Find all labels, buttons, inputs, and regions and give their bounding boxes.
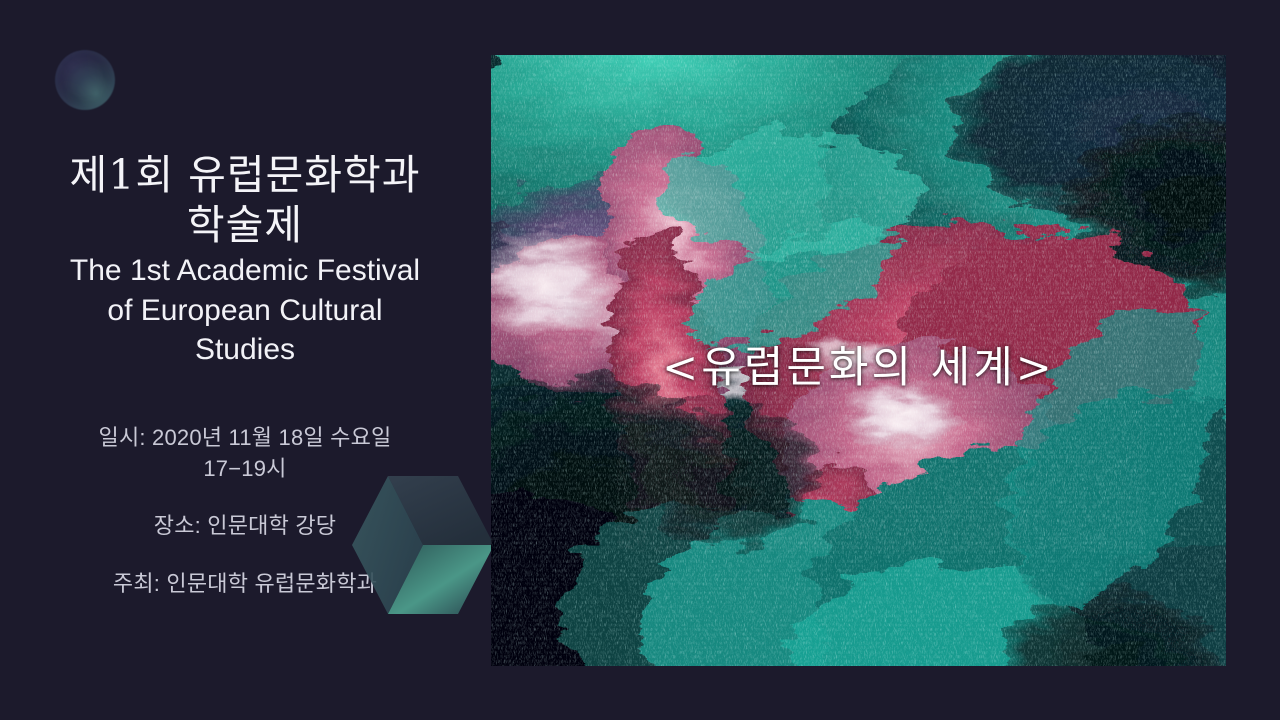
event-organizer: 주최: 인문대학 유럽문화학과 [20,568,470,599]
title-korean-line-1: 제1회 유럽문화학과 [20,150,470,200]
title-english-line-3: Studies [20,332,470,369]
presentation-slide: 제1회 유럽문화학과 학술제 The 1st Academic Festival… [0,0,1280,720]
title-english-line-2: of European Cultural [20,293,470,330]
artwork-image: <유럽문화의 세계> [491,55,1226,666]
artwork-caption-text: <유럽문화의 세계> [662,333,1055,395]
title-block: 제1회 유럽문화학과 학술제 The 1st Academic Festival… [20,150,470,369]
artwork-caption: <유럽문화의 세계> [491,55,1226,666]
title-english-line-1: The 1st Academic Festival [20,253,470,290]
left-text-column: 제1회 유럽문화학과 학술제 The 1st Academic Festival… [0,0,490,720]
event-venue: 장소: 인문대학 강당 [20,510,470,541]
event-info-block: 일시: 2020년 11월 18일 수요일 17−19시 장소: 인문대학 강당… [20,422,470,599]
event-datetime-line-2: 17−19시 [20,453,470,484]
event-datetime-line-1: 일시: 2020년 11월 18일 수요일 [20,422,470,453]
title-korean-line-2: 학술제 [20,200,470,250]
